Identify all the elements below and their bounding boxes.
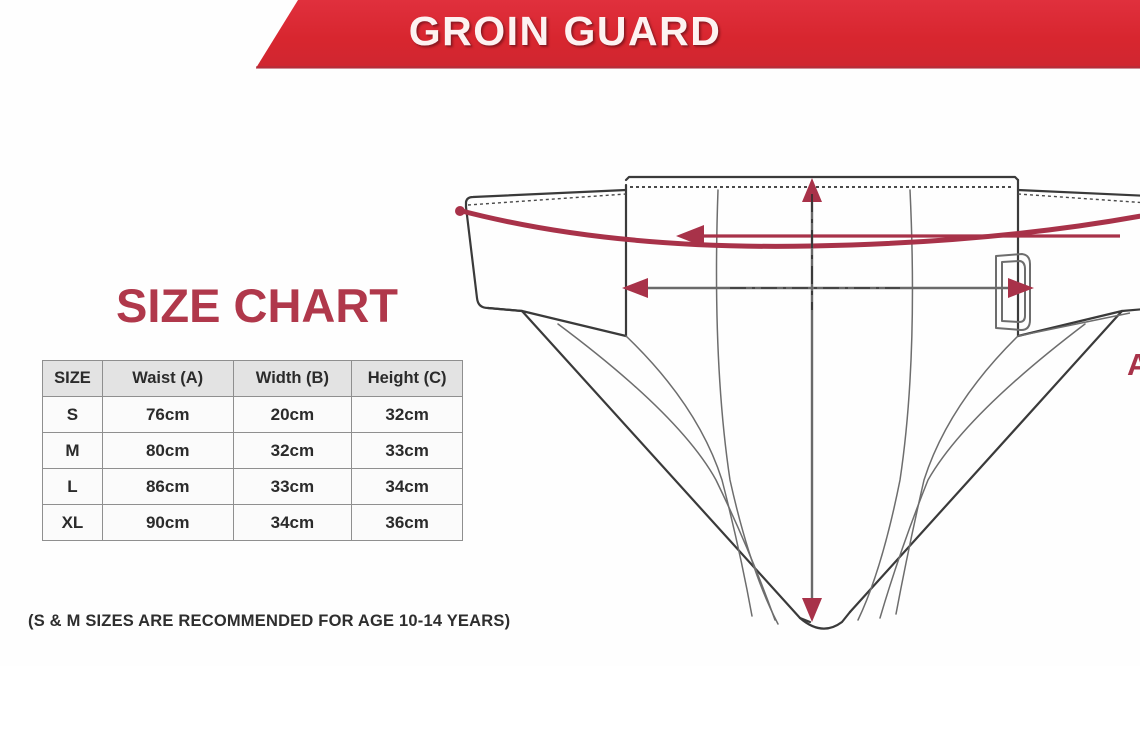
column-header-waist: Waist (A) — [102, 361, 233, 397]
groin-guard-line-drawing — [430, 150, 1140, 650]
measure-a-waistband-line — [455, 204, 1140, 246]
table-row: S 76cm 20cm 32cm — [43, 397, 463, 433]
table-header-row: SIZE Waist (A) Width (B) Height (C) — [43, 361, 463, 397]
cell-size: S — [43, 397, 103, 433]
header-banner: GROIN GUARD — [0, 0, 1140, 72]
measure-label-a: A — [1127, 347, 1140, 383]
cell-width: 20cm — [233, 397, 352, 433]
pouch-outline — [522, 311, 1122, 629]
column-header-size: SIZE — [43, 361, 103, 397]
cell-width: 32cm — [233, 433, 352, 469]
cell-size: XL — [43, 505, 103, 541]
groin-guard-diagram: A B C — [430, 150, 1140, 650]
cell-size: L — [43, 469, 103, 505]
table-row: XL 90cm 34cm 36cm — [43, 505, 463, 541]
cell-width: 34cm — [233, 505, 352, 541]
cell-waist: 80cm — [102, 433, 233, 469]
size-chart-heading: SIZE CHART — [116, 278, 398, 333]
size-chart-table: SIZE Waist (A) Width (B) Height (C) S 76… — [42, 360, 463, 541]
table-row: L 86cm 33cm 34cm — [43, 469, 463, 505]
cell-waist: 86cm — [102, 469, 233, 505]
cell-size: M — [43, 433, 103, 469]
cell-waist: 90cm — [102, 505, 233, 541]
banner-underline — [256, 66, 1140, 69]
cell-width: 33cm — [233, 469, 352, 505]
table-row: M 80cm 32cm 33cm — [43, 433, 463, 469]
page-title: GROIN GUARD — [330, 8, 800, 55]
column-header-width: Width (B) — [233, 361, 352, 397]
pouch-inner-seams — [558, 324, 1085, 620]
cell-waist: 76cm — [102, 397, 233, 433]
